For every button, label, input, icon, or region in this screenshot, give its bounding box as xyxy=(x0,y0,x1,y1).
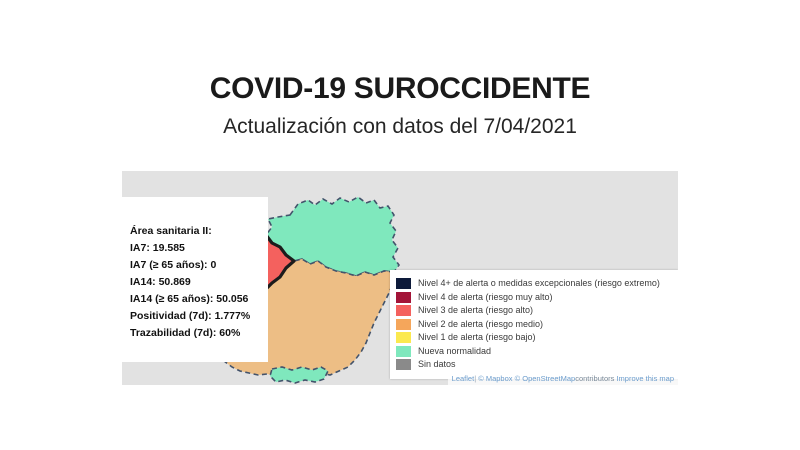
info-row-ia7: IA7: 19.585 xyxy=(130,240,262,257)
legend-swatch-icon xyxy=(396,319,411,330)
legend-item-nivel-4: Nivel 4 de alerta (riesgo muy alto) xyxy=(396,291,670,305)
legend-item-label: Nivel 2 de alerta (riesgo medio) xyxy=(418,319,543,330)
map-attribution: Leaflet| © Mapbox © OpenStreetMapcontrib… xyxy=(448,373,678,385)
region-south-islet-nueva-normalidad[interactable] xyxy=(270,367,328,383)
page-title: COVID-19 SUROCCIDENTE xyxy=(0,72,800,105)
legend-item-label: Nivel 4 de alerta (riesgo muy alto) xyxy=(418,292,553,303)
legend-item-nivel-2: Nivel 2 de alerta (riesgo medio) xyxy=(396,318,670,332)
legend-swatch-icon xyxy=(396,332,411,343)
info-area-title: Área sanitaria II: xyxy=(130,223,262,240)
attribution-separator: | xyxy=(474,374,476,383)
legend-swatch-icon xyxy=(396,292,411,303)
legend-swatch-icon xyxy=(396,278,411,289)
legend-item-nivel-1: Nivel 1 de alerta (riesgo bajo) xyxy=(396,331,670,345)
legend-item-sin-datos: Sin datos xyxy=(396,358,670,372)
page-header: COVID-19 SUROCCIDENTE Actualización con … xyxy=(0,72,800,138)
legend-item-nueva-normalidad: Nueva normalidad xyxy=(396,345,670,359)
info-row-trazabilidad: Trazabilidad (7d): 60% xyxy=(130,325,262,342)
legend-swatch-icon xyxy=(396,359,411,370)
info-row-ia14: IA14: 50.869 xyxy=(130,274,262,291)
info-row-ia14-65: IA14 (≥ 65 años): 50.056 xyxy=(130,291,262,308)
legend-item-nivel-4-plus: Nivel 4+ de alerta o medidas excepcional… xyxy=(396,277,670,291)
legend-item-label: Nivel 3 de alerta (riesgo alto) xyxy=(418,305,533,316)
map-legend: Nivel 4+ de alerta o medidas excepcional… xyxy=(390,270,678,379)
leaflet-link[interactable]: Leaflet xyxy=(452,374,475,383)
openstreetmap-link[interactable]: © OpenStreetMap xyxy=(515,374,576,383)
map-container[interactable]: Área sanitaria II: IA7: 19.585 IA7 (≥ 65… xyxy=(122,171,678,385)
legend-item-nivel-3: Nivel 3 de alerta (riesgo alto) xyxy=(396,304,670,318)
mapbox-link[interactable]: © Mapbox xyxy=(478,374,512,383)
info-row-positividad: Positividad (7d): 1.777% xyxy=(130,308,262,325)
legend-item-label: Sin datos xyxy=(418,359,456,370)
legend-item-label: Nivel 1 de alerta (riesgo bajo) xyxy=(418,332,536,343)
legend-swatch-icon xyxy=(396,305,411,316)
area-info-panel: Área sanitaria II: IA7: 19.585 IA7 (≥ 65… xyxy=(122,197,268,362)
improve-map-link[interactable]: Improve this map xyxy=(616,374,674,383)
legend-swatch-icon xyxy=(396,346,411,357)
legend-item-label: Nivel 4+ de alerta o medidas excepcional… xyxy=(418,278,660,289)
page-subtitle: Actualización con datos del 7/04/2021 xyxy=(0,115,800,138)
legend-item-label: Nueva normalidad xyxy=(418,346,491,357)
info-row-ia7-65: IA7 (≥ 65 años): 0 xyxy=(130,257,262,274)
attribution-contributors: contributors xyxy=(575,374,614,383)
